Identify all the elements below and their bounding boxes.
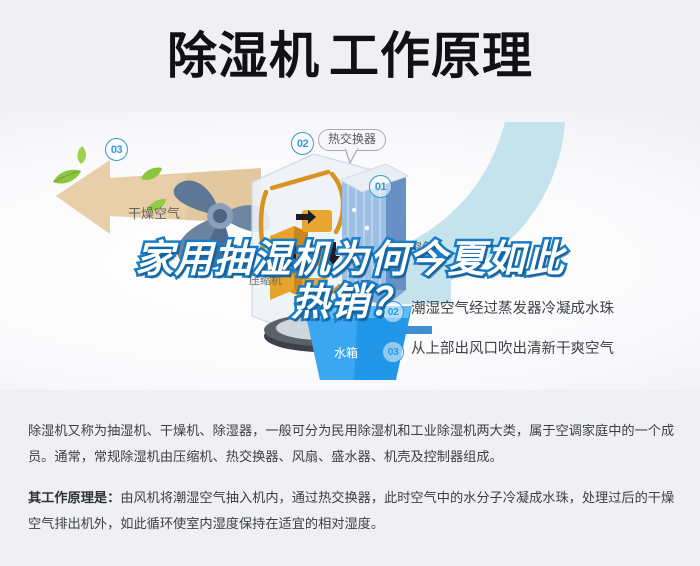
paragraph-2-rest: 由风机将潮湿空气抽入机内，通过热交换器，此时空气中的水分子冷凝成水珠，处理过后的… [28, 490, 674, 531]
body-copy: 除湿机又称为抽湿机、干燥机、除湿器，一般可分为民用除湿机和工业除湿机两大类，属于… [28, 418, 676, 537]
leaf-icon [52, 168, 82, 186]
badge-03: 03 [105, 138, 128, 161]
step-text: 从上部出风口吹出清新干爽空气 [411, 340, 614, 358]
badge-02: 02 [291, 132, 314, 155]
step-text: 潮湿空气经过蒸发器冷凝成水珠 [411, 300, 614, 318]
label-moist-air: 潮湿空气 [383, 237, 435, 256]
leaf-icon [75, 146, 89, 164]
callout-tail-icon [345, 148, 359, 164]
paragraph-1: 除湿机又称为抽湿机、干燥机、除湿器，一般可分为民用除湿机和工业除湿机两大类，属于… [28, 418, 676, 469]
list-item: 03 从上部出风口吹出清新干爽空气 [382, 340, 682, 363]
step-badge: 03 [382, 341, 404, 363]
label-water-tank: 水箱 [334, 344, 358, 361]
paragraph-2-lead: 其工作原理是： [28, 490, 120, 505]
label-compressor: 压缩机 [249, 272, 282, 288]
page-title: 除湿机工作原理 [167, 31, 533, 81]
page-title-part1: 除湿机 [167, 28, 320, 84]
list-item: 02 潮湿空气经过蒸发器冷凝成水珠 [382, 300, 682, 323]
steps-list: 02 潮湿空气经过蒸发器冷凝成水珠 03 从上部出风口吹出清新干爽空气 [382, 300, 682, 380]
step-badge: 02 [382, 301, 404, 323]
page-title-part2: 工作原理 [329, 28, 533, 84]
page-header: 除湿机工作原理 [0, 0, 700, 112]
badge-01: 01 [369, 175, 392, 198]
label-dry-air: 干燥空气 [128, 203, 180, 222]
infographic-page: 除湿机工作原理 [0, 0, 700, 566]
paragraph-2: 其工作原理是：由风机将潮湿空气抽入机内，通过热交换器，此时空气中的水分子冷凝成水… [28, 485, 676, 536]
